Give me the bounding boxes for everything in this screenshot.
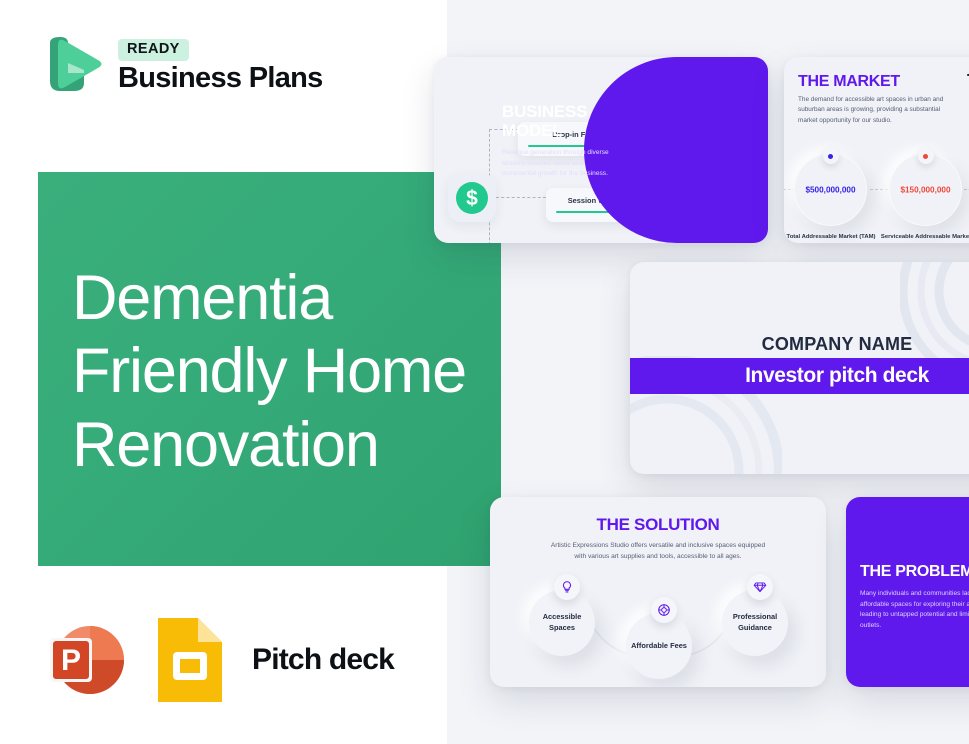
solution-node-label: Professional Guidance [722,612,788,633]
ready-badge: READY [118,39,189,61]
business-model-title: BUSINESS MODEL [502,103,614,140]
hero-title: Dementia Friendly Home Renovation [72,262,512,482]
metric-knob [918,148,934,164]
solution-node[interactable]: Affordable Fees [626,613,692,679]
footer-formats: P Pitch deck [40,614,394,706]
metric-knob [823,148,839,164]
connector-middle [496,197,546,198]
solution-node-label: Affordable Fees [631,641,687,652]
market-rule-mid [870,189,888,190]
lightbulb-icon [554,574,580,600]
target-circle-icon [651,597,677,623]
solution-node[interactable]: Professional Guidance [722,590,788,656]
market-rule-right [964,189,969,190]
solution-title: THE SOLUTION [490,515,826,535]
pitch-deck-band: Investor pitch deck [630,358,969,394]
solution-node-label: Accessible Spaces [529,612,595,633]
dollar-sign-icon: $ [456,182,488,214]
market-body: The demand for accessible art spaces in … [798,95,950,126]
footer-label: Pitch deck [252,643,394,677]
metric-value: $500,000,000 [794,185,867,194]
problem-body: Many individuals and communities lack ac… [860,589,969,632]
market-metric-tam[interactable]: $500,000,000 [794,153,867,226]
solution-node[interactable]: Accessible Spaces [529,590,595,656]
brand-name: Business Plans [118,63,323,93]
business-model-body: Revenue generation through diverse strea… [502,148,614,179]
diamond-icon [747,574,773,600]
play-triangle-logo-icon [38,33,104,99]
svg-text:P: P [61,644,81,677]
slide-business-model[interactable]: $ Drop-in Fees Session Workshops Commiss… [434,57,768,243]
pitch-deck-subtitle: Investor pitch deck [745,364,929,388]
solution-body: Artistic Expressions Studio offers versa… [548,541,768,562]
company-name: COMPANY NAME [630,334,969,355]
slide-the-solution[interactable]: THE SOLUTION Artistic Expressions Studio… [490,497,826,687]
slide-the-market[interactable]: THE MARKET The demand for accessible art… [784,57,969,243]
metric-caption: Serviceable Addressable Market (SAM) [876,233,969,243]
brand-logo: READY Business Plans [38,33,323,99]
slide-the-problem[interactable]: THE PROBLEM Many individuals and communi… [846,497,969,687]
market-metric-sam[interactable]: $150,000,000 [889,153,962,226]
problem-title: THE PROBLEM [860,563,969,581]
metric-caption: Total Addressable Market (TAM) [784,233,881,242]
powerpoint-icon: P [40,614,132,706]
market-title: THE MARKET [798,73,900,91]
metric-dot [923,154,928,159]
google-slides-icon [154,614,226,706]
slide-title-cover[interactable]: COMPANY NAME Investor pitch deck [630,262,969,474]
metric-value: $150,000,000 [889,185,962,194]
metric-dot [828,154,833,159]
